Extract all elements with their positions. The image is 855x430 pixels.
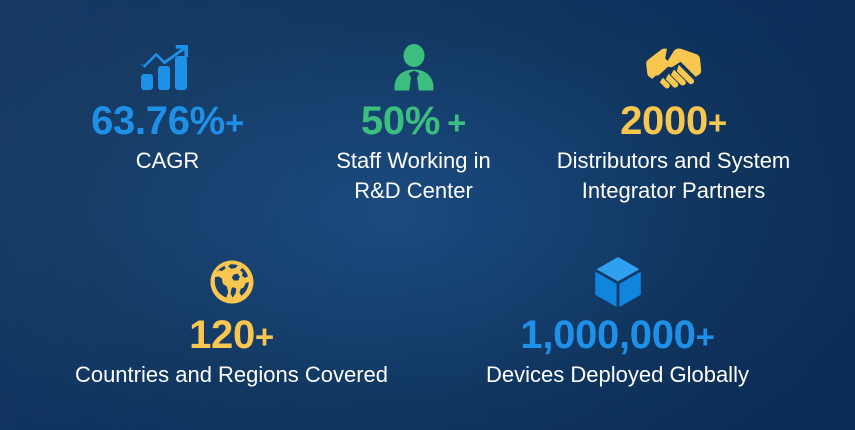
stat-value-countries: 120+ — [189, 314, 274, 356]
stat-card-devices: 1,000,000+ Devices Deployed Globally — [422, 258, 814, 390]
globe-icon — [209, 258, 255, 306]
stats-row-bottom: 120+ Countries and Regions Covered — [0, 258, 855, 390]
stat-label-cagr: CAGR — [136, 146, 200, 176]
stat-number: 120 — [189, 313, 255, 357]
stats-row-top: 63.76%+ CAGR 50%+ — [0, 44, 855, 206]
stat-label-distributors: Distributors and System Integrator Partn… — [557, 146, 791, 206]
stat-label-line: Staff Working in — [336, 146, 490, 176]
stat-value-distributors: 2000+ — [620, 100, 727, 142]
stat-label-devices: Devices Deployed Globally — [486, 360, 749, 390]
stat-value-rd-staff: 50%+ — [361, 100, 466, 142]
stat-card-rd-staff: 50%+ Staff Working in R&D Center — [299, 44, 529, 206]
stat-label-line: Countries and Regions Covered — [75, 360, 388, 390]
stat-card-cagr: 63.76%+ CAGR — [37, 44, 299, 176]
stats-infographic-panel: 63.76%+ CAGR 50%+ — [0, 0, 855, 430]
stat-value-devices: 1,000,000+ — [520, 314, 714, 356]
stat-number: 63.76% — [91, 99, 225, 143]
stat-label-line: Distributors and System — [557, 146, 791, 176]
stat-number: 2000 — [620, 99, 708, 143]
stat-plus-sign: + — [255, 318, 274, 355]
stat-plus-sign: + — [447, 104, 466, 141]
handshake-icon — [640, 44, 708, 92]
stat-label-rd-staff: Staff Working in R&D Center — [336, 146, 490, 206]
stat-label-line: R&D Center — [336, 176, 490, 206]
stat-card-distributors: 2000+ Distributors and System Integrator… — [529, 44, 819, 206]
stats-rows-container: 63.76%+ CAGR 50%+ — [0, 0, 855, 430]
person-user-icon — [389, 44, 439, 92]
stat-label-line: Integrator Partners — [557, 176, 791, 206]
stat-plus-sign: + — [696, 318, 715, 355]
stat-plus-sign: + — [708, 104, 727, 141]
stat-value-cagr: 63.76%+ — [91, 100, 244, 142]
stat-label-line: CAGR — [136, 146, 200, 176]
stat-number: 50% — [361, 99, 440, 143]
stat-label-line: Devices Deployed Globally — [486, 360, 749, 390]
stat-label-countries: Countries and Regions Covered — [75, 360, 388, 390]
stat-number: 1,000,000 — [520, 313, 695, 357]
bar-chart-growth-icon — [139, 44, 197, 92]
cube-box-icon — [593, 258, 643, 306]
stat-plus-sign: + — [225, 104, 244, 141]
stat-card-countries: 120+ Countries and Regions Covered — [42, 258, 422, 390]
